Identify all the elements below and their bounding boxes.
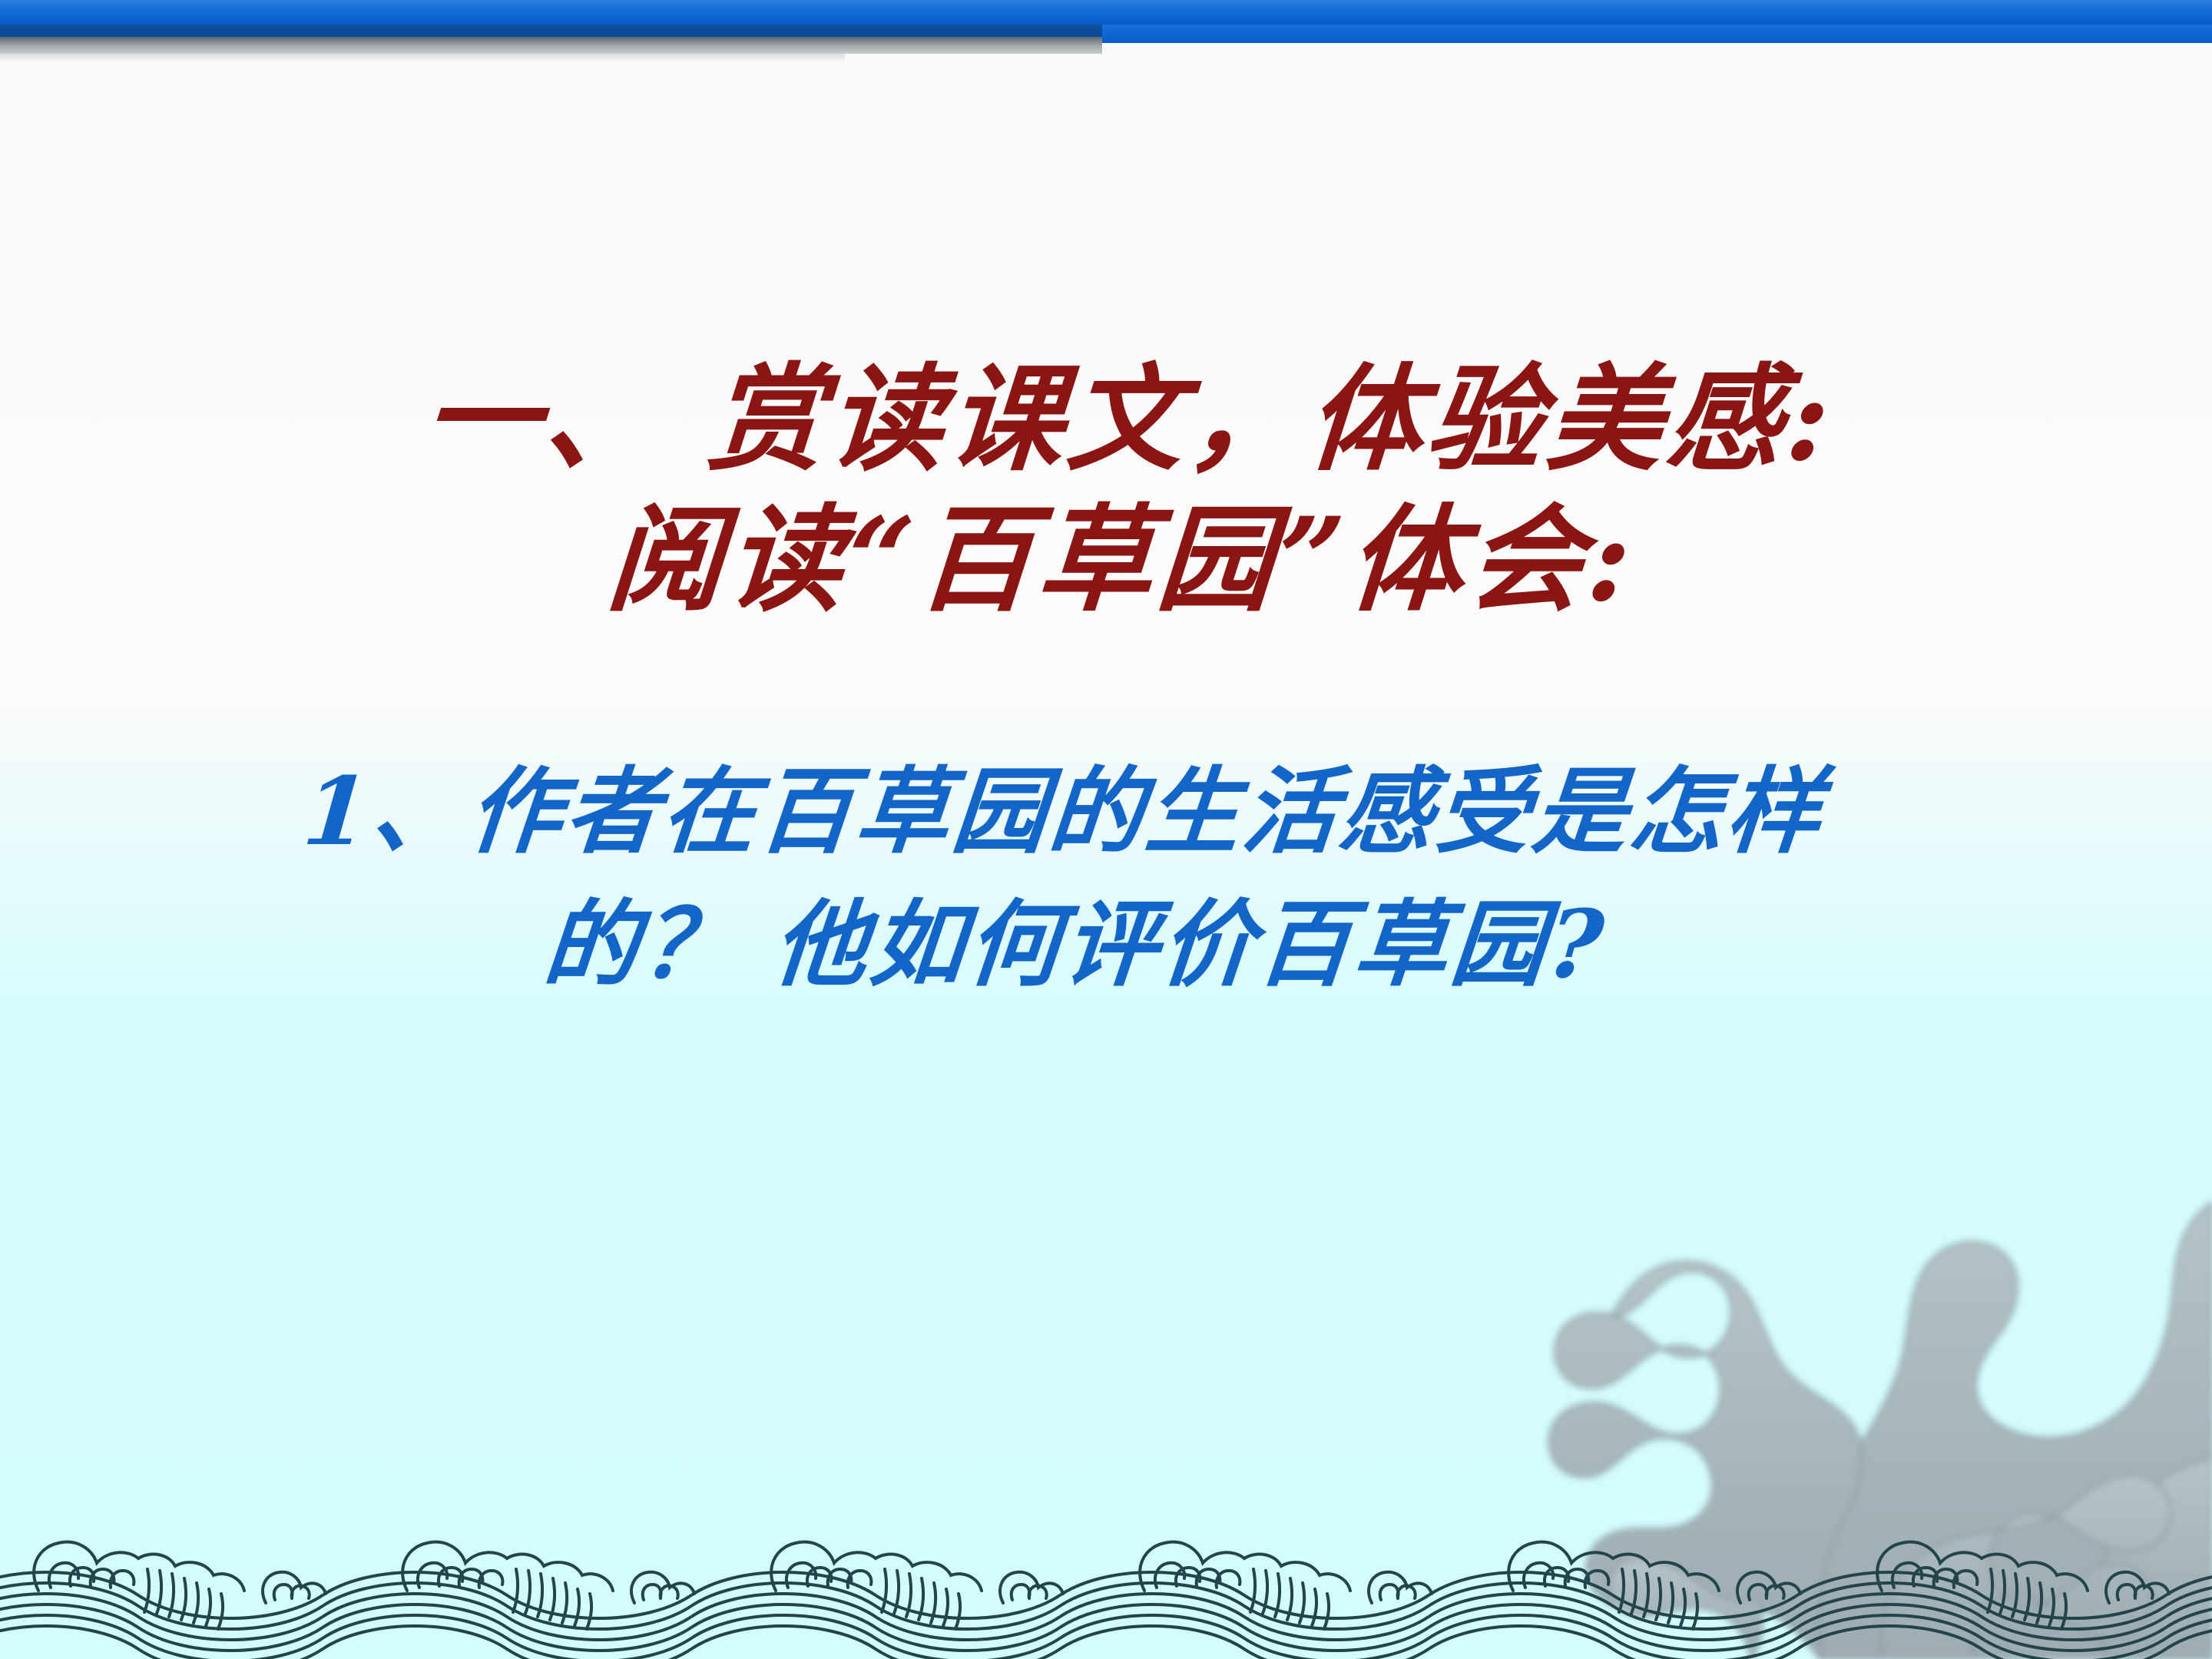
question-line-1: 1、作者在百草园的生活感受是怎样 bbox=[0, 745, 2212, 878]
slide-canvas: 一、 赏读课文，体验美感: 阅读“百草园”体会: 1、作者在百草园的生活感受是怎… bbox=[0, 0, 2212, 1659]
top-accent-bar bbox=[0, 0, 2212, 25]
page-title: 一、 赏读课文，体验美感: 阅读“百草园”体会: bbox=[0, 349, 2212, 631]
question-block: 1、作者在百草园的生活感受是怎样 的？ 他如何评价百草园? bbox=[0, 745, 2212, 1011]
title-line-secondary: 阅读“百草园”体会: bbox=[0, 490, 2212, 631]
question-line-2: 的？ 他如何评价百草园? bbox=[0, 878, 2212, 1011]
top-accent-bar-right bbox=[1102, 25, 2212, 43]
top-accent-bar-inner bbox=[0, 25, 1102, 37]
title-line-primary: 一、 赏读课文，体验美感: bbox=[0, 349, 2212, 490]
answer-list-block: 乐 园 1、 景色优美 2、 美丽的传说 3、 雪中捕鸟 bbox=[0, 1064, 2212, 1632]
top-accent-bar-shadow-soft bbox=[0, 54, 845, 61]
top-accent-bar-shadow bbox=[0, 37, 1102, 54]
